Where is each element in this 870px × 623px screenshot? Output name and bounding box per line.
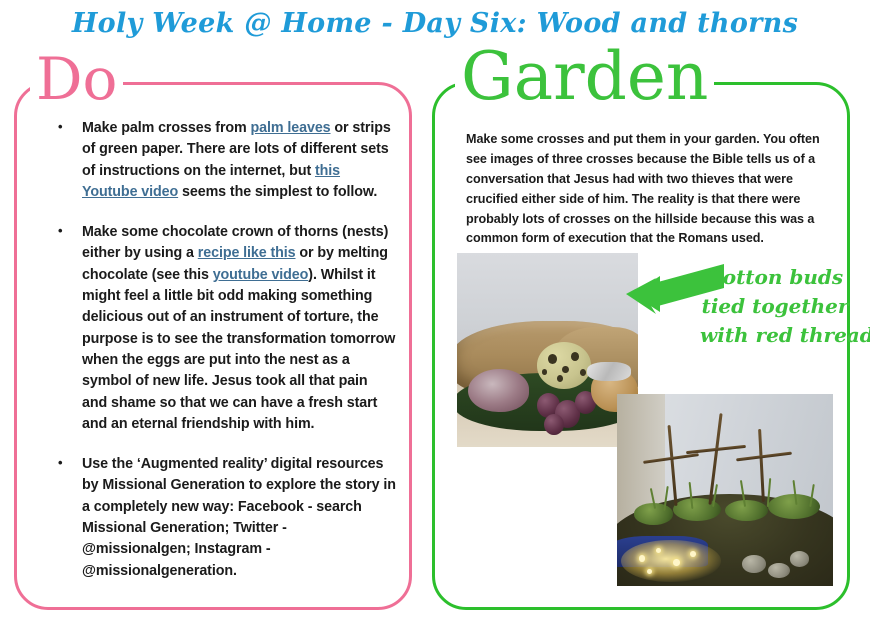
garden-annotation-note: Cotton buds tied together with red threa… bbox=[700, 263, 850, 350]
photo1-grape bbox=[544, 414, 564, 435]
list-item: Make palm crosses from palm leaves or st… bbox=[58, 118, 396, 203]
photo2-fairy-lights-glow bbox=[621, 540, 720, 582]
do-list: Make palm crosses from palm leaves or st… bbox=[36, 118, 396, 601]
heading-do: Do bbox=[30, 50, 123, 108]
photo1-egg-spot bbox=[548, 354, 557, 364]
list-item-text: ). Whilst it might feel a little bit odd… bbox=[82, 267, 395, 432]
list-item-text: Make palm crosses from bbox=[82, 120, 251, 136]
annotation-line: tied together bbox=[700, 292, 850, 321]
photo2-stone bbox=[768, 563, 790, 578]
photo1-egg-spot bbox=[557, 375, 563, 382]
link-palm-leaves[interactable]: palm leaves bbox=[251, 120, 331, 136]
photo1-egg-spot bbox=[571, 352, 579, 361]
annotation-line: Cotton buds bbox=[700, 263, 850, 292]
link-youtube-video[interactable]: youtube video bbox=[213, 267, 309, 283]
list-item: Make some chocolate crown of thorns (nes… bbox=[58, 222, 396, 435]
poster-page: Holy Week @ Home - Day Six: Wood and tho… bbox=[0, 0, 870, 623]
page-title: Holy Week @ Home - Day Six: Wood and tho… bbox=[0, 8, 870, 39]
photo1-foil-wrapped-cake bbox=[468, 369, 530, 412]
list-item-text: seems the simplest to follow. bbox=[178, 184, 377, 200]
photo-twig-crosses-garden bbox=[617, 394, 833, 586]
photo2-stone bbox=[742, 555, 766, 572]
photo2-fairy-light-bulb bbox=[673, 559, 679, 566]
photo2-moss bbox=[725, 500, 768, 521]
photo2-fairy-light-bulb bbox=[639, 555, 645, 562]
list-item: Use the ‘Augmented reality’ digital reso… bbox=[58, 454, 396, 582]
annotation-line: with red thread bbox=[700, 321, 850, 350]
photo1-foil bbox=[587, 362, 630, 381]
link-recipe-like-this[interactable]: recipe like this bbox=[198, 245, 296, 261]
photo2-stone bbox=[790, 551, 809, 566]
garden-paragraph: Make some crosses and put them in your g… bbox=[466, 130, 826, 249]
heading-garden: Garden bbox=[455, 44, 714, 110]
list-item-text: Use the ‘Augmented reality’ digital reso… bbox=[82, 456, 396, 578]
